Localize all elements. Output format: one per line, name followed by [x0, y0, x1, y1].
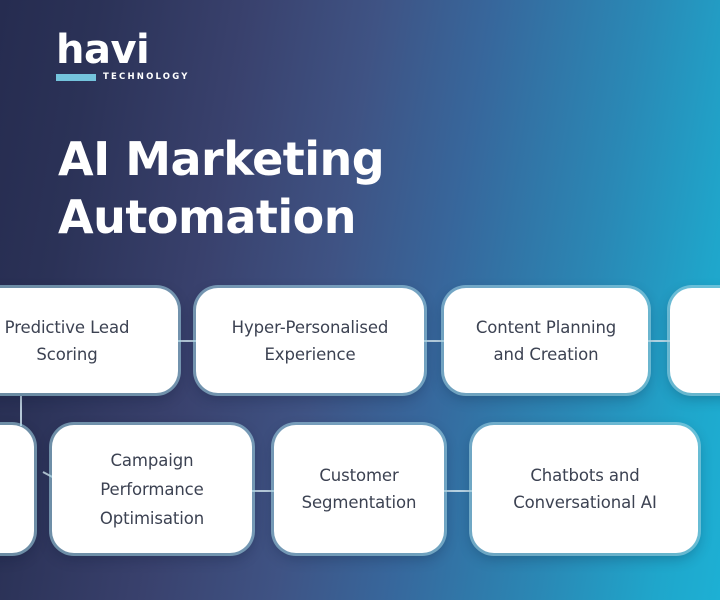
brand-tagline-row: TECHNOLOGY: [56, 72, 236, 82]
connector-row1-to-row2: [20, 396, 22, 426]
flow-card-row2-clipped-left[interactable]: [0, 425, 34, 553]
brand-logo: havi TECHNOLOGY: [56, 30, 236, 92]
flow-card-label: Predictive Lead Scoring: [5, 314, 130, 368]
flow-card-label: Customer Segmentation: [302, 462, 417, 516]
connector-row1-card1-card2: [178, 340, 196, 342]
brand-wordmark: havi: [56, 30, 236, 70]
brand-tagline: TECHNOLOGY: [103, 72, 190, 82]
connector-row1-card2-card3: [424, 340, 444, 342]
connector-row2-card2-card3: [252, 490, 274, 492]
brand-accent-bar-icon: [56, 74, 96, 81]
page-title: AI Marketing Automation: [58, 130, 478, 246]
flow-card-label: Content Planning and Creation: [476, 314, 616, 368]
flow-card-campaign-performance-optimisation[interactable]: Campaign Performance Optimisation: [52, 425, 252, 553]
flow-card-customer-segmentation[interactable]: Customer Segmentation: [274, 425, 444, 553]
flow-card-hyper-personalised-experience[interactable]: Hyper-Personalised Experience: [196, 288, 424, 393]
flow-card-label: Campaign Performance Optimisation: [100, 446, 204, 533]
connector-row1-card3-card4: [648, 340, 670, 342]
connector-row2-card3-card4: [444, 490, 472, 492]
flow-card-label: Hyper-Personalised Experience: [232, 314, 389, 368]
flow-card-label: Chatbots and Conversational AI: [513, 462, 656, 516]
flow-card-content-planning-and-creation[interactable]: Content Planning and Creation: [444, 288, 648, 393]
flow-card-row1-clipped-right[interactable]: [670, 288, 720, 393]
flow-card-chatbots-and-conversational-ai[interactable]: Chatbots and Conversational AI: [472, 425, 698, 553]
flow-card-predictive-lead-scoring[interactable]: Predictive Lead Scoring: [0, 288, 178, 393]
slide-canvas: havi TECHNOLOGY AI Marketing Automation …: [0, 0, 720, 600]
